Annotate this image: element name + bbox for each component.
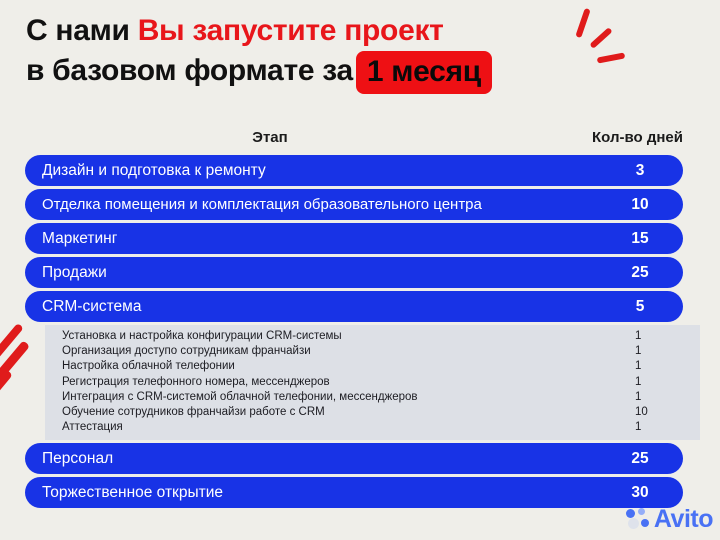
list-item: Обучение сотрудников франчайзи работе с …: [45, 405, 700, 420]
burst-dash-1: [575, 8, 590, 38]
headline-line1-part1: С нами: [26, 14, 138, 47]
stage-list: Дизайн и подготовка к ремонту 3 Отделка …: [25, 155, 683, 511]
list-item: Аттестация 1: [45, 420, 700, 435]
stage-days: 25: [597, 450, 683, 468]
table-row[interactable]: Продажи 25: [25, 257, 683, 288]
column-header-stage: Этап: [25, 129, 515, 146]
stage-label: Персонал: [25, 450, 113, 468]
table-row[interactable]: Дизайн и подготовка к ремонту 3: [25, 155, 683, 186]
list-item: Настройка облачной телефонии 1: [45, 359, 700, 374]
subitem-days: 1: [635, 420, 641, 435]
list-item: Организация доступо сотрудникам франчайз…: [45, 344, 700, 359]
subitem-label: Организация доступо сотрудникам франчайз…: [62, 344, 311, 359]
subitem-label: Установка и настройка конфигурации CRM-с…: [62, 329, 342, 344]
stage-label: Маркетинг: [25, 230, 117, 248]
subitem-days: 10: [635, 405, 648, 420]
subitem-label: Регистрация телефонного номера, мессендж…: [62, 375, 330, 390]
stage-label: Торжественное открытие: [25, 484, 223, 502]
table-row[interactable]: Отделка помещения и комплектация образов…: [25, 189, 683, 220]
column-header-days: Кол-во дней: [592, 129, 683, 146]
brush-stroke-3: [0, 369, 13, 401]
table-row[interactable]: Персонал 25: [25, 443, 683, 474]
list-item: Интеграция с CRM-системой облачной телеф…: [45, 390, 700, 405]
stage-days: 25: [597, 264, 683, 282]
list-item: Установка и настройка конфигурации CRM-с…: [45, 329, 700, 344]
subitem-label: Обучение сотрудников франчайзи работе с …: [62, 405, 325, 420]
avito-dot-4: [641, 519, 649, 527]
table-row[interactable]: CRM-система 5: [25, 291, 683, 322]
red-burst-icon: [560, 8, 640, 70]
headline-highlight-chip: 1 месяц: [356, 51, 492, 94]
slide-canvas: С нами Вы запустите проект в базовом фор…: [0, 0, 720, 540]
stage-days: 30: [597, 484, 683, 502]
subitem-days: 1: [635, 329, 641, 344]
headline-line1-part2: Вы запустите проект: [138, 14, 444, 47]
stage-days: 15: [597, 230, 683, 248]
subitem-days: 1: [635, 390, 641, 405]
subitem-label: Настройка облачной телефонии: [62, 359, 235, 374]
headline-line-1: С нами Вы запустите проект: [26, 11, 626, 50]
burst-dash-3: [597, 52, 626, 63]
stage-label: Отделка помещения и комплектация образов…: [25, 196, 482, 213]
headline-line2-part1: в базовом формате за: [26, 54, 353, 87]
subitem-label: Интеграция с CRM-системой облачной телеф…: [62, 390, 418, 405]
subitem-label: Аттестация: [62, 420, 123, 435]
list-item: Регистрация телефонного номера, мессендж…: [45, 375, 700, 390]
stage-days: 10: [597, 196, 683, 214]
table-header: Этап Кол-во дней: [25, 129, 683, 151]
stage-label: Продажи: [25, 264, 107, 282]
burst-dash-2: [589, 27, 612, 49]
table-row[interactable]: Маркетинг 15: [25, 223, 683, 254]
subitem-days: 1: [635, 359, 641, 374]
page-title: С нами Вы запустите проект в базовом фор…: [26, 11, 626, 89]
stage-label: Дизайн и подготовка к ремонту: [25, 162, 266, 180]
table-row[interactable]: Торжественное открытие 30: [25, 477, 683, 508]
crm-subitem-panel: Установка и настройка конфигурации CRM-с…: [45, 325, 700, 440]
subitem-days: 1: [635, 344, 641, 359]
subitem-days: 1: [635, 375, 641, 390]
stage-days: 3: [597, 162, 683, 180]
stage-label: CRM-система: [25, 298, 141, 316]
stage-days: 5: [597, 298, 683, 316]
headline-line-2: в базовом формате за1 месяц: [26, 50, 626, 89]
avito-dot-3: [628, 518, 639, 529]
